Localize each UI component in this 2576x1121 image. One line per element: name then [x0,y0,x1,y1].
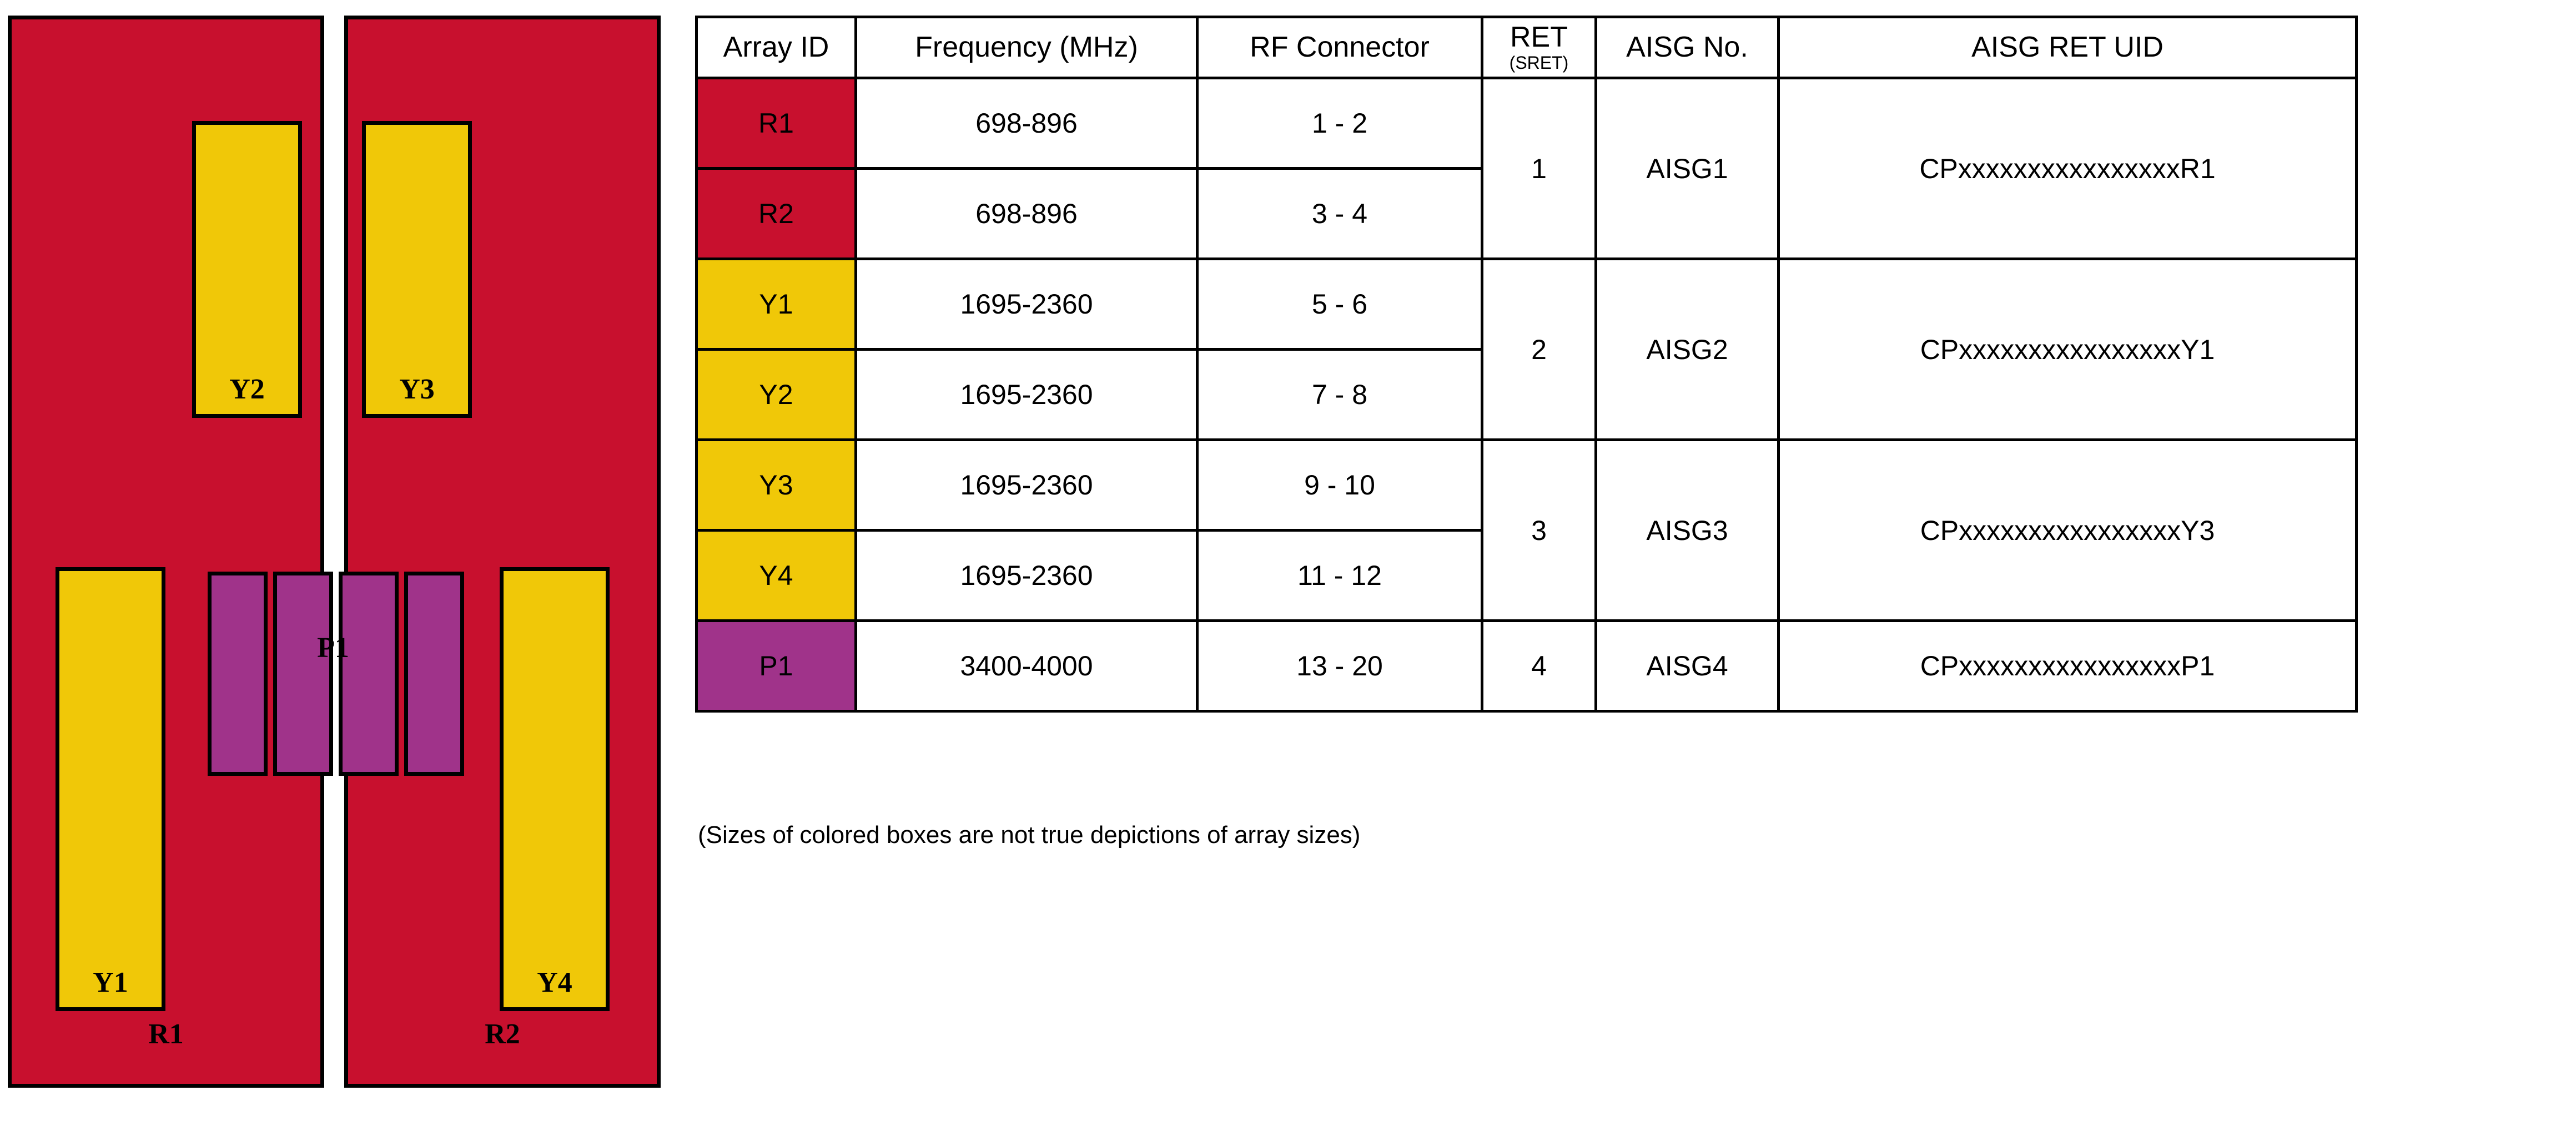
table-row: P1 3400-4000 13 - 20 4 AISG4 CPxxxxxxxxx… [697,621,2357,711]
array-box-label-y3: Y3 [399,375,435,414]
array-box-label-y1: Y1 [93,968,128,1007]
array-box-y2: Y2 [192,121,302,418]
array-box-p1-sub-2 [273,572,333,776]
cell-array-id: R2 [697,169,856,259]
cell-aisg-ret-uid: CPxxxxxxxxxxxxxxxxY3 [1779,440,2357,621]
column-header-array-id: Array ID [697,17,856,78]
column-header-ret-main: RET [1510,21,1568,53]
cell-rf-connector: 9 - 10 [1198,440,1482,531]
cell-aisg-no: AISG1 [1596,78,1779,259]
table-row: Y1 1695-2360 5 - 6 2 AISG2 CPxxxxxxxxxxx… [697,259,2357,350]
cell-aisg-ret-uid: CPxxxxxxxxxxxxxxxxR1 [1779,78,2357,259]
cell-rf-connector: 7 - 8 [1198,350,1482,440]
cell-array-id: R1 [697,78,856,169]
column-header-aisg-no: AISG No. [1596,17,1779,78]
antenna-panel-label-r1: R1 [8,1020,324,1049]
table-body: R1 698-896 1 - 2 1 AISG1 CPxxxxxxxxxxxxx… [697,78,2357,711]
array-box-y1: Y1 [56,567,165,1011]
column-header-aisg-ret-uid: AISG RET UID [1779,17,2357,78]
array-box-y3: Y3 [362,121,472,418]
cell-rf-connector: 13 - 20 [1198,621,1482,711]
ret-aisg-table-container: Array ID Frequency (MHz) RF Connector RE… [695,16,2358,713]
table-footnote: (Sizes of colored boxes are not true dep… [698,821,1360,849]
array-box-y4: Y4 [500,567,610,1011]
cell-frequency: 1695-2360 [856,350,1198,440]
cell-frequency: 3400-4000 [856,621,1198,711]
array-box-label-y2: Y2 [229,375,265,414]
column-header-frequency: Frequency (MHz) [856,17,1198,78]
cell-array-id: Y4 [697,531,856,621]
cell-rf-connector: 5 - 6 [1198,259,1482,350]
cell-aisg-ret-uid: CPxxxxxxxxxxxxxxxxP1 [1779,621,2357,711]
table-row: R1 698-896 1 - 2 1 AISG1 CPxxxxxxxxxxxxx… [697,78,2357,169]
cell-ret: 4 [1482,621,1596,711]
cell-aisg-no: AISG3 [1596,440,1779,621]
column-header-ret: RET (SRET) [1482,17,1596,78]
cell-array-id: P1 [697,621,856,711]
cell-aisg-no: AISG4 [1596,621,1779,711]
cell-frequency: 1695-2360 [856,259,1198,350]
cell-array-id: Y2 [697,350,856,440]
cell-array-id: Y1 [697,259,856,350]
array-box-label-y4: Y4 [537,968,572,1007]
ret-aisg-table: Array ID Frequency (MHz) RF Connector RE… [695,16,2358,713]
column-header-rf-connector: RF Connector [1198,17,1482,78]
table-header: Array ID Frequency (MHz) RF Connector RE… [697,17,2357,78]
cell-frequency: 1695-2360 [856,440,1198,531]
cell-frequency: 698-896 [856,169,1198,259]
cell-ret: 2 [1482,259,1596,440]
antenna-panel-label-r2: R2 [344,1020,661,1049]
cell-array-id: Y3 [697,440,856,531]
cell-frequency: 1695-2360 [856,531,1198,621]
cell-ret: 1 [1482,78,1596,259]
cell-aisg-no: AISG2 [1596,259,1779,440]
cell-aisg-ret-uid: CPxxxxxxxxxxxxxxxxY1 [1779,259,2357,440]
cell-frequency: 698-896 [856,78,1198,169]
column-header-ret-sub: (SRET) [1483,53,1594,73]
antenna-array-diagram: Y2 Y3 Y1 Y4 P1 R1 R2 [0,0,666,1121]
cell-rf-connector: 3 - 4 [1198,169,1482,259]
array-box-p1-sub-1 [208,572,268,776]
cell-ret: 3 [1482,440,1596,621]
cell-rf-connector: 11 - 12 [1198,531,1482,621]
table-row: Y3 1695-2360 9 - 10 3 AISG3 CPxxxxxxxxxx… [697,440,2357,531]
array-box-p1-sub-3 [339,572,399,776]
array-box-p1-sub-4 [404,572,464,776]
table-header-row: Array ID Frequency (MHz) RF Connector RE… [697,17,2357,78]
cell-rf-connector: 1 - 2 [1198,78,1482,169]
